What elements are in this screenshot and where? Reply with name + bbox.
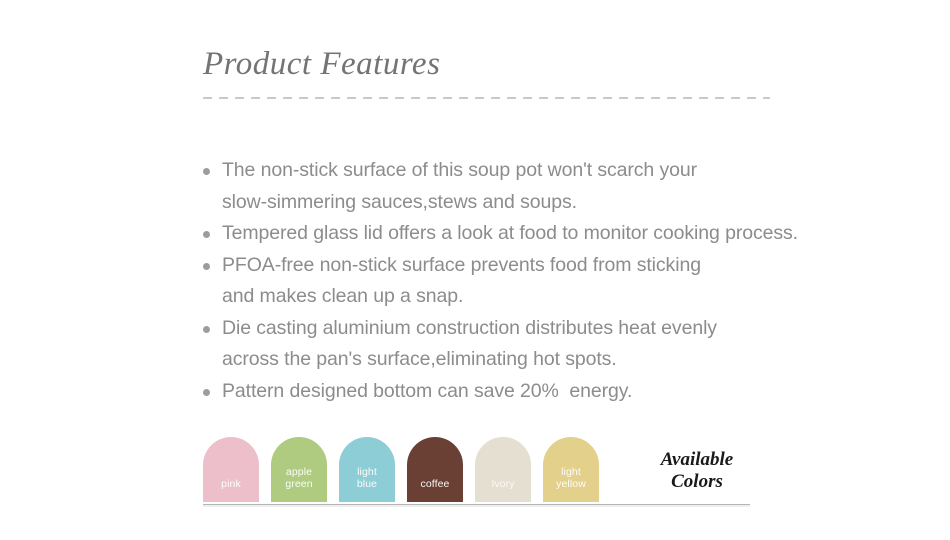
color-swatch-label-line2: blue: [339, 479, 395, 491]
color-swatch-label: coffee: [407, 479, 463, 491]
bullet-icon: [203, 389, 210, 396]
product-features-page: Product Features The non-stick surface o…: [0, 0, 950, 540]
available-colors-caption-line2: Colors: [651, 471, 743, 493]
color-swatch-label-line1: Ivory: [475, 479, 531, 491]
feature-list: The non-stick surface of this soup pot w…: [203, 155, 803, 407]
bullet-icon: [203, 326, 210, 333]
color-swatch-light-blue[interactable]: lightblue: [339, 437, 395, 502]
feature-item: Die casting aluminium construction distr…: [203, 313, 803, 376]
feature-text-line1: The non-stick surface of this soup pot w…: [222, 159, 697, 181]
color-swatch-label-line1: coffee: [407, 479, 463, 491]
color-swatch-coffee[interactable]: coffee: [407, 437, 463, 502]
bullet-icon: [203, 231, 210, 238]
bullet-icon: [203, 168, 210, 175]
feature-text-line2: across the pan's surface,eliminating hot…: [222, 344, 803, 376]
feature-item: Tempered glass lid offers a look at food…: [203, 218, 803, 250]
color-swatch-light-yellow[interactable]: lightyellow: [543, 437, 599, 502]
feature-text-line1: Tempered glass lid offers a look at food…: [222, 222, 798, 244]
feature-item: Pattern designed bottom can save 20% ene…: [203, 376, 803, 408]
available-colors-caption-line1: Available: [651, 449, 743, 471]
color-swatch-label-line1: apple: [271, 467, 327, 479]
colors-baseline-rule-shadow: [203, 505, 750, 507]
feature-text-line2: and makes clean up a snap.: [222, 281, 803, 313]
color-swatch-pink[interactable]: pink: [203, 437, 259, 502]
color-swatch-label: Ivory: [475, 479, 531, 491]
feature-text-line2: slow-simmering sauces,stews and soups.: [222, 187, 803, 219]
color-swatch-label: lightyellow: [543, 467, 599, 490]
color-swatch-label: lightblue: [339, 467, 395, 490]
available-colors-caption: Available Colors: [651, 449, 743, 493]
feature-text-line1: Die casting aluminium construction distr…: [222, 317, 717, 339]
feature-text-line1: Pattern designed bottom can save 20% ene…: [222, 380, 632, 402]
page-title: Product Features: [203, 44, 440, 84]
color-swatch-ivory[interactable]: Ivory: [475, 437, 531, 502]
feature-text-line1: PFOA-free non-stick surface prevents foo…: [222, 254, 701, 276]
title-divider: [203, 97, 770, 99]
color-swatch-label: applegreen: [271, 467, 327, 490]
feature-item: The non-stick surface of this soup pot w…: [203, 155, 803, 218]
color-swatch-label-line2: yellow: [543, 479, 599, 491]
feature-item: PFOA-free non-stick surface prevents foo…: [203, 250, 803, 313]
color-swatch-apple-green[interactable]: applegreen: [271, 437, 327, 502]
color-swatch-label-line1: light: [339, 467, 395, 479]
bullet-icon: [203, 263, 210, 270]
color-swatch-label-line1: light: [543, 467, 599, 479]
color-swatch-label-line2: green: [271, 479, 327, 491]
color-swatch-strip: pinkapplegreenlightbluecoffeeIvorylighty…: [203, 437, 599, 502]
color-swatch-label: pink: [203, 479, 259, 491]
color-swatch-label-line1: pink: [203, 479, 259, 491]
